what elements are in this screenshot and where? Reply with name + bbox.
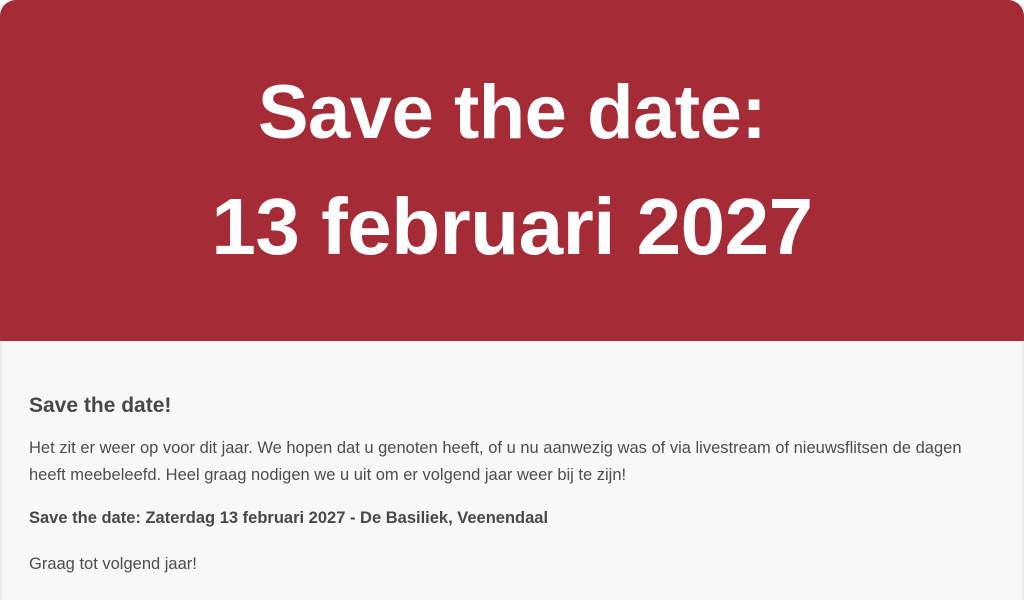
message-closing-line: Graag tot volgend jaar! xyxy=(29,551,992,577)
message-event-details: Save the date: Zaterdag 13 februari 2027… xyxy=(29,505,992,531)
message-heading: Save the date! xyxy=(29,393,992,418)
hero-headline-line-2: 13 februari 2027 xyxy=(211,187,812,267)
email-announcement-page: Save the date: 13 februari 2027 Save the… xyxy=(0,0,1024,600)
message-intro-paragraph: Het zit er weer op voor dit jaar. We hop… xyxy=(29,435,989,488)
save-the-date-hero-banner: Save the date: 13 februari 2027 xyxy=(0,0,1024,341)
message-body-panel: Save the date! Het zit er weer op voor d… xyxy=(0,341,1024,600)
message-body-content: Save the date! Het zit er weer op voor d… xyxy=(2,341,1022,577)
hero-headline-line-1: Save the date: xyxy=(258,75,766,151)
